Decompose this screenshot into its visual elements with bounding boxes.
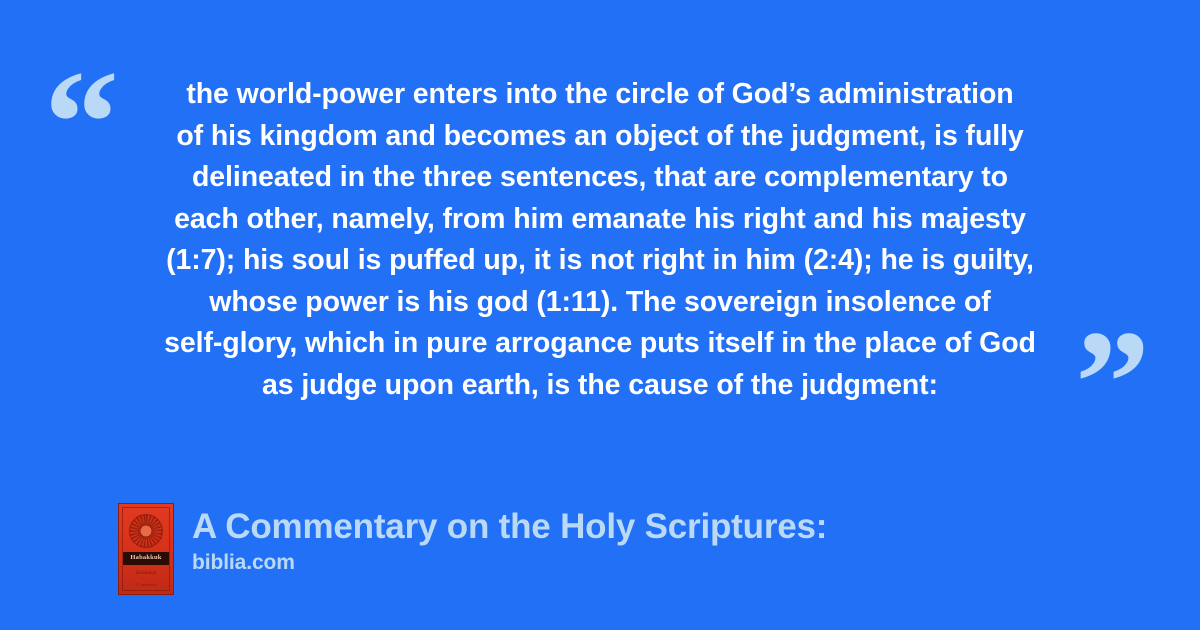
closing-quote-icon: ” bbox=[1075, 308, 1150, 458]
book-cover-subtitle: Habakkuk bbox=[119, 570, 173, 578]
book-cover-band: Habakkuk bbox=[123, 552, 169, 565]
book-title: A Commentary on the Holy Scriptures: bbox=[192, 505, 827, 549]
book-emblem-icon bbox=[129, 514, 163, 548]
book-cover-thumbnail: Habakkuk Habakkuk A Commentary bbox=[118, 503, 174, 595]
quote-block: “ the world-power enters into the circle… bbox=[0, 58, 1200, 428]
source-site: biblia.com bbox=[192, 549, 827, 577]
source-attribution: Habakkuk Habakkuk A Commentary A Comment… bbox=[118, 503, 827, 595]
attribution-text: A Commentary on the Holy Scriptures: bib… bbox=[192, 503, 827, 577]
quote-text: the world-power enters into the circle o… bbox=[98, 74, 1102, 406]
book-cover-title: Habakkuk bbox=[130, 555, 161, 562]
book-cover-imprint: A Commentary bbox=[119, 584, 173, 588]
quote-card: “ the world-power enters into the circle… bbox=[0, 0, 1200, 630]
